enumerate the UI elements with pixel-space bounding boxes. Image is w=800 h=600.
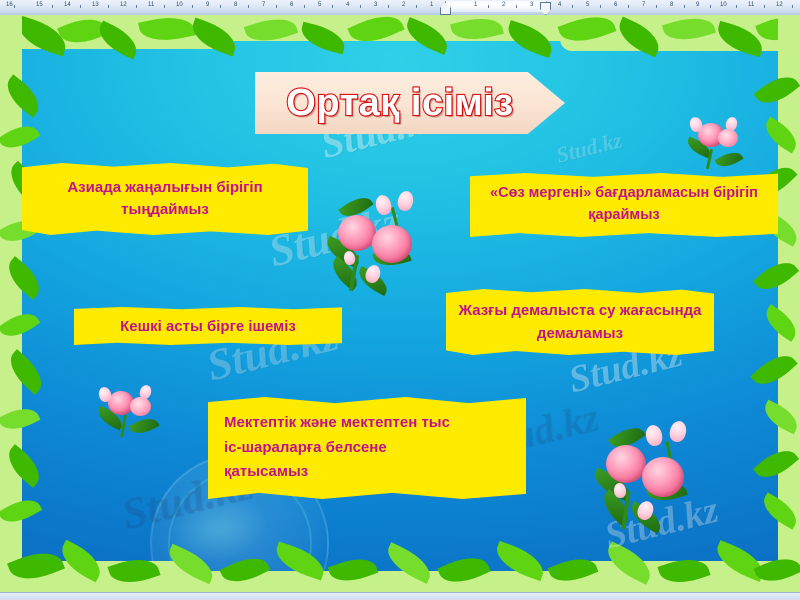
- textbox-mekteptik-line-1: Мектептік және мектептен тыс: [224, 411, 510, 436]
- textbox-keshki-asty[interactable]: Кешкі асты бірге ішеміз: [74, 307, 342, 345]
- textbox-zhazgy-demalys-text: Жазғы демалыста су жағасында демаламыз: [456, 299, 704, 346]
- textbox-mekteptik-line-3: қатысамыз: [224, 460, 510, 485]
- pink-roses-small-top-right: [686, 115, 746, 171]
- title-banner[interactable]: Ортақ ісіміз: [255, 72, 565, 134]
- slide-border-left: [0, 15, 3, 593]
- textbox-soz-mergeni[interactable]: «Сөз мергені» бағдарламасын бірігіп қара…: [470, 173, 778, 237]
- ruler-hanging-indent-marker[interactable]: [540, 2, 551, 15]
- page-title: Ортақ ісіміз: [265, 76, 535, 131]
- textbox-keshki-asty-text: Кешкі асты бірге ішеміз: [86, 318, 330, 335]
- horizontal-ruler[interactable]: 16 15 14 13 12 11 10 9 8 7 6 5 4 3 2 1 1…: [0, 0, 800, 16]
- slide-canvas[interactable]: Stud.kz Stud.kz Stud.kz Stud.kz Stud.kz …: [0, 15, 800, 593]
- textbox-zhazgy-demalys[interactable]: Жазғы демалыста су жағасында демаламыз: [446, 289, 714, 355]
- textbox-azhiada-text: Азиада жаңалығын бірігіп тыңдаймыз: [36, 177, 294, 221]
- textbox-azhiada[interactable]: Азиада жаңалығын бірігіп тыңдаймыз: [22, 163, 308, 235]
- pink-roses-cluster-center: [322, 181, 444, 299]
- slide-editor-window: 16 15 14 13 12 11 10 9 8 7 6 5 4 3 2 1 1…: [0, 0, 800, 600]
- leaf-border-bottom: [0, 545, 800, 593]
- leaf-border-right: [760, 15, 800, 593]
- pink-roses-cluster-bottom-right: [588, 413, 716, 535]
- textbox-mekteptik-line-2: іс-шараларға белсене: [224, 436, 510, 461]
- pink-roses-small-left: [96, 383, 162, 439]
- textbox-mekteptik[interactable]: Мектептік және мектептен тыс іс-шараларғ…: [208, 397, 526, 499]
- status-bar: [0, 592, 800, 600]
- leaf-border-left: [0, 15, 40, 593]
- leaf-border-top: [0, 15, 800, 57]
- textbox-soz-mergeni-text: «Сөз мергені» бағдарламасын бірігіп қара…: [482, 183, 766, 227]
